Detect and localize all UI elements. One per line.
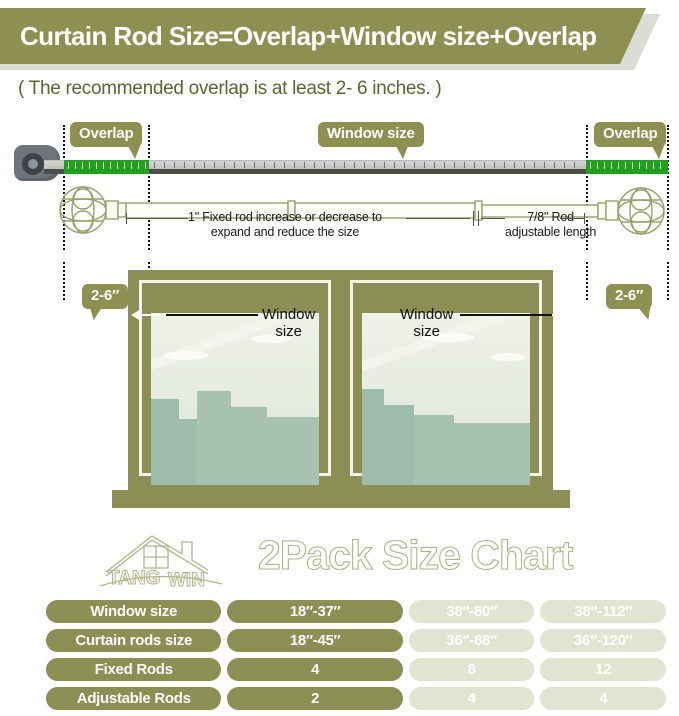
pane-label-right: Window size [400, 306, 453, 340]
dim-tick-joint-a [473, 211, 474, 226]
dim-adj-line1: 7/8" Rod [527, 210, 574, 224]
tape-ticks-right [586, 160, 668, 174]
table-row: Window size 18″-37″ 38″-80″ 38″-112″ [46, 600, 666, 623]
table-cell: 38″-80″ [409, 600, 535, 623]
table-cell: 18″-45″ [227, 629, 402, 652]
table-cell: 4 [540, 687, 666, 710]
table-cell: 4 [409, 687, 535, 710]
measure-line-left [166, 314, 258, 316]
table-row-header: Adjustable Rods [46, 687, 221, 710]
table-row-header: Window size [46, 600, 221, 623]
guide-right-outer-lower [667, 262, 669, 300]
table-cell: 2 [227, 687, 402, 710]
table-row: Adjustable Rods 2 4 4 [46, 687, 666, 710]
badge-overlap-left: Overlap [70, 122, 142, 147]
table-cell: 38″-112″ [540, 600, 666, 623]
tangwin-logo-icon: TANG WIN [96, 528, 246, 590]
measure-line-right [460, 314, 552, 316]
dim-line-adj-left [481, 218, 505, 219]
measure-arrow-left [131, 309, 141, 321]
badge-overlap-left-tail [128, 146, 140, 159]
window-illustration: 2-6″ 2-6″ [0, 262, 679, 520]
measure-white-right [552, 314, 578, 316]
badge-window-size-top-tail [396, 146, 408, 159]
dim-tick-joint-b [478, 211, 479, 226]
table-cell: 36″-88″ [409, 629, 535, 652]
dim-fixed-line1: 1" Fixed rod increase or decrease to [188, 210, 382, 224]
badge-overlap-right-tail [652, 146, 664, 159]
badge-overlap-right-measure-tail [639, 306, 653, 321]
dim-label-adjustable-rod: 7/8" Rod adjustable length [505, 210, 596, 240]
table-cell: 4 [227, 658, 402, 681]
table-row: Fixed Rods 4 8 12 [46, 658, 666, 681]
dim-tick-fixed-left [126, 213, 127, 224]
dim-line-fixed-left [126, 218, 188, 219]
dim-tick-adj-right [584, 213, 585, 224]
logo-brand-left: TANG [108, 568, 160, 589]
page-title: Curtain Rod Size=Overlap+Window size+Ove… [20, 21, 597, 52]
dim-fixed-line2: expand and reduce the size [211, 225, 359, 239]
table-row-header: Fixed Rods [46, 658, 221, 681]
table-cell: 18″-37″ [227, 600, 402, 623]
measure-arrow-right [576, 309, 586, 321]
dim-adj-line2: adjustable length [505, 225, 596, 239]
badge-window-size-top: Window size [318, 122, 424, 147]
measure-white-left [140, 314, 166, 316]
banner-body: Curtain Rod Size=Overlap+Window size+Ove… [0, 8, 646, 64]
rod-diagram: Overlap Window size Overlap [0, 115, 679, 260]
badge-overlap-left-measure-tail [87, 306, 101, 321]
finial-right-icon [618, 188, 664, 234]
logo-brand-right: WIN [168, 570, 205, 590]
table-row-header: Curtain rods size [46, 629, 221, 652]
pane-label-right-line1: Window [400, 306, 453, 323]
table-cell: 36″-120″ [540, 629, 666, 652]
pane-label-left-line2: size [275, 323, 302, 340]
badge-overlap-right: Overlap [594, 122, 666, 147]
table-cell: 8 [409, 658, 535, 681]
pane-label-left: Window size [262, 306, 315, 340]
infographic-root: Curtain Rod Size=Overlap+Window size+Ove… [0, 0, 679, 716]
table-row: Curtain rods size 18″-45″ 36″-88″ 36″-12… [46, 629, 666, 652]
tape-ticks-left [64, 160, 149, 174]
subtitle-note: ( The recommended overlap is at least 2-… [18, 78, 441, 100]
badge-overlap-right-measure: 2-6″ [606, 284, 652, 309]
tape-measure-hub [28, 159, 38, 169]
guide-right-inner-lower [586, 262, 588, 300]
dim-line-fixed-right [406, 218, 470, 219]
header-banner: Curtain Rod Size=Overlap+Window size+Ove… [0, 8, 679, 70]
size-chart-table: Window size 18″-37″ 38″-80″ 38″-112″ Cur… [46, 600, 666, 712]
chart-title: 2Pack Size Chart [258, 532, 572, 579]
dim-label-fixed-rod: 1" Fixed rod increase or decrease to exp… [188, 210, 382, 240]
pane-label-right-line2: size [413, 323, 440, 340]
window-sill [112, 490, 570, 508]
dim-line-adj-right [560, 218, 585, 219]
finial-left-icon [60, 187, 106, 233]
table-cell: 12 [540, 658, 666, 681]
guide-left-outer-lower [63, 262, 65, 300]
logo-and-chart-title: TANG WIN 2Pack Size Chart [0, 528, 679, 594]
pane-label-left-line1: Window [262, 306, 315, 323]
tape-ticks-middle [150, 160, 584, 174]
